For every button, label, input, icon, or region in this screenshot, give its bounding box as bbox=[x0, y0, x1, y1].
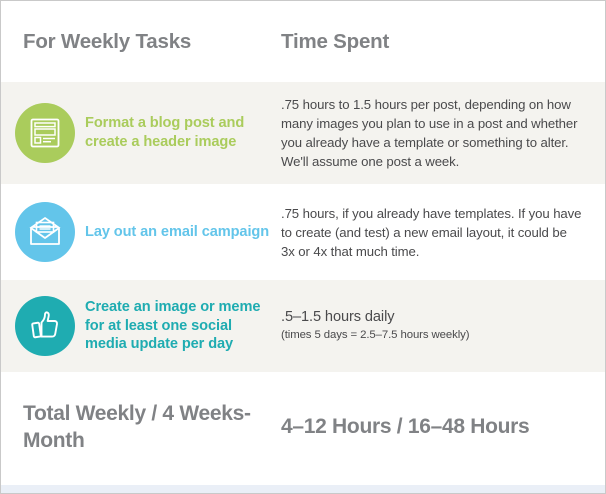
total-row: Total Weekly / 4 Weeks-Month 4–12 Hours … bbox=[1, 372, 605, 482]
table-row: Lay out an email campaign .75 hours, if … bbox=[1, 184, 605, 280]
table-header-row: For Weekly Tasks Time Spent bbox=[1, 1, 605, 82]
weekly-tasks-table-card: For Weekly Tasks Time Spent Format a blo… bbox=[0, 0, 606, 494]
column-header-time: Time Spent bbox=[276, 30, 389, 54]
task-cell: Format a blog post and create a header i… bbox=[1, 82, 276, 184]
time-primary: .5–1.5 hours daily bbox=[281, 308, 583, 328]
time-cell: .5–1.5 hours daily (times 5 days = 2.5–7… bbox=[276, 280, 605, 372]
table-row: Format a blog post and create a header i… bbox=[1, 82, 605, 184]
open-envelope-icon bbox=[15, 202, 75, 262]
time-description: .75 hours, if you already have templates… bbox=[281, 204, 583, 261]
card-bottom-band bbox=[1, 485, 606, 494]
thumbs-up-icon bbox=[15, 296, 75, 356]
time-secondary: (times 5 days = 2.5–7.5 hours weekly) bbox=[281, 328, 583, 343]
blog-layout-icon bbox=[15, 103, 75, 163]
total-label: Total Weekly / 4 Weeks-Month bbox=[1, 400, 276, 455]
task-cell: Create an image or meme for at least one… bbox=[1, 280, 276, 372]
time-description: .75 hours to 1.5 hours per post, dependi… bbox=[281, 95, 583, 171]
time-cell: .75 hours to 1.5 hours per post, dependi… bbox=[276, 82, 605, 184]
task-label: Lay out an email campaign bbox=[85, 223, 269, 242]
total-value: 4–12 Hours / 16–48 Hours bbox=[276, 413, 529, 440]
task-label: Format a blog post and create a header i… bbox=[85, 114, 276, 151]
task-cell: Lay out an email campaign bbox=[1, 184, 276, 280]
column-header-task: For Weekly Tasks bbox=[1, 30, 276, 54]
task-label: Create an image or meme for at least one… bbox=[85, 298, 276, 354]
table-row: Create an image or meme for at least one… bbox=[1, 280, 605, 372]
time-cell: .75 hours, if you already have templates… bbox=[276, 184, 605, 280]
